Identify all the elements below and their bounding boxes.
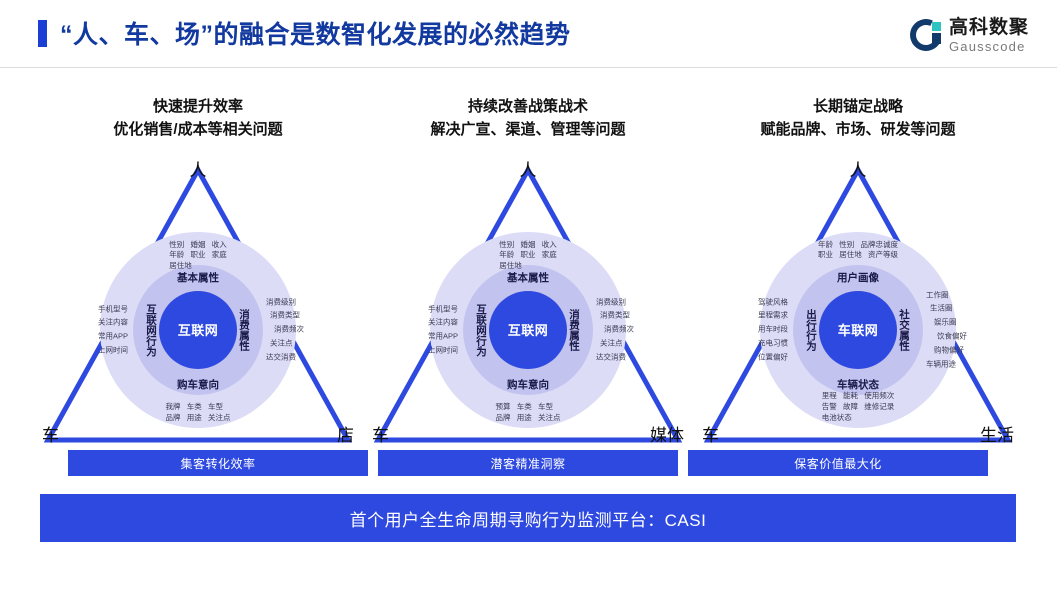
column-heading-line2: 解决广宣、渠道、管理等问题 — [368, 118, 688, 141]
triangle-corner-bottom-left: 车 — [42, 427, 59, 444]
satellite-text: 上网时间 — [98, 343, 128, 357]
triangle-diagram-3: 人 车 生活 车联网 用户画像 社交属性 车辆状态 出行行为 年龄 性别 品牌忠… — [698, 154, 1018, 449]
column-heading-line2: 赋能品牌、市场、研发等问题 — [698, 118, 1018, 141]
satellite-group-right: 消费级别 消费类型 消费频次 关注点 达交消费 — [596, 295, 634, 364]
column-group-1: 快速提升效率 优化销售/成本等相关问题 人 车 店 互联网 基本属性 消费属性 … — [38, 95, 358, 449]
concentric-diagram-2: 互联网 基本属性 消费属性 购车意向 互联网行为 性别 婚姻 收入 年龄 职业 … — [430, 232, 626, 428]
satellite-group-left: 手机型号 关注内容 常用APP 上网时间 — [98, 302, 128, 358]
triangle-corner-apex: 人 — [190, 162, 207, 179]
satellite-text: 饮食偏好 — [926, 330, 967, 344]
page-title: “人、车、场”的融合是数智化发展的必然趋势 — [60, 15, 571, 51]
triangle-corner-bottom-right: 生活 — [980, 427, 1014, 444]
satellite-text: 性别 婚姻 收入 — [169, 240, 227, 251]
satellite-text: 品牌 用途 关注点 — [165, 413, 230, 424]
satellite-text: 达交消费 — [596, 350, 634, 364]
ring-label-bottom: 车辆状态 — [837, 377, 879, 392]
satellite-text: 达交消费 — [266, 350, 304, 364]
header-divider — [0, 67, 1057, 68]
ring-label-left: 互联网行为 — [144, 303, 159, 356]
column-heading-line2: 优化销售/成本等相关问题 — [38, 118, 358, 141]
brand-logo: 高科数聚 Gausscode — [910, 14, 1029, 56]
satellite-text: 车辆用途 — [926, 357, 967, 371]
satellite-text: 生活圈 — [926, 302, 967, 316]
satellite-text: 消费级别 — [266, 295, 304, 309]
satellite-text: 常用APP — [428, 330, 458, 344]
satellite-text: 居住地 — [169, 261, 227, 272]
core-circle: 互联网 — [159, 291, 237, 369]
satellite-text: 年龄 性别 品牌忠诚度 — [818, 240, 898, 251]
satellite-text: 关注点 — [596, 336, 634, 350]
column-group-3: 长期锚定战略 赋能品牌、市场、研发等问题 人 车 生活 车联网 用户画像 社交属… — [698, 95, 1018, 449]
column-heading-2: 持续改善战策战术 解决广宣、渠道、管理等问题 — [368, 95, 688, 142]
core-label: 互联网 — [178, 320, 219, 339]
satellite-text: 用车时段 — [758, 323, 788, 337]
satellite-text: 娱乐圈 — [926, 316, 967, 330]
page-header: “人、车、场”的融合是数智化发展的必然趋势 高科数聚 Gausscode — [0, 0, 1057, 68]
satellite-text: 里程需求 — [758, 309, 788, 323]
satellite-text: 居住地 — [499, 261, 557, 272]
caption-bar-1: 集客转化效率 — [68, 450, 368, 476]
ring-label-right: 消费属性 — [237, 309, 252, 351]
satellite-group-top: 性别 婚姻 收入 年龄 职业 家庭 居住地 — [499, 240, 557, 273]
logo-name-en: Gausscode — [949, 40, 1029, 53]
satellite-text: 我牌 车类 车型 — [165, 402, 230, 413]
satellite-text: 工作圈 — [926, 288, 967, 302]
satellite-text: 性别 婚姻 收入 — [499, 240, 557, 251]
satellite-text: 电池状态 — [822, 413, 895, 424]
satellite-text: 品牌 用途 关注点 — [495, 413, 560, 424]
ring-label-left: 出行行为 — [804, 309, 819, 351]
caption-bar-2: 潜客精准洞察 — [378, 450, 678, 476]
concentric-diagram-3: 车联网 用户画像 社交属性 车辆状态 出行行为 年龄 性别 品牌忠诚度 职业 居… — [760, 232, 956, 428]
satellite-group-right: 工作圈 生活圈 娱乐圈 饮食偏好 购物偏好 车辆用途 — [926, 288, 967, 371]
satellite-text: 消费频次 — [596, 323, 634, 337]
ring-label-left: 互联网行为 — [474, 303, 489, 356]
satellite-text: 关注点 — [266, 336, 304, 350]
satellite-group-top: 年龄 性别 品牌忠诚度 职业 居住地 资产等级 — [818, 240, 898, 262]
satellite-text: 位置偏好 — [758, 350, 788, 364]
satellite-text: 上网时间 — [428, 343, 458, 357]
triangle-corner-bottom-right: 店 — [337, 427, 354, 444]
ring-label-right: 社交属性 — [897, 309, 912, 351]
satellite-text: 驾驶风格 — [758, 295, 788, 309]
satellite-text: 手机型号 — [428, 302, 458, 316]
concentric-diagram-1: 互联网 基本属性 消费属性 购车意向 互联网行为 性别 婚姻 收入 年龄 职业 … — [100, 232, 296, 428]
column-heading-1: 快速提升效率 优化销售/成本等相关问题 — [38, 95, 358, 142]
satellite-text: 消费类型 — [266, 309, 304, 323]
triangle-corner-bottom-left: 车 — [372, 427, 389, 444]
satellite-text: 消费频次 — [266, 323, 304, 337]
satellite-group-left: 手机型号 关注内容 常用APP 上网时间 — [428, 302, 458, 358]
triangle-corner-bottom-right: 媒体 — [650, 427, 684, 444]
triangle-corner-apex: 人 — [520, 162, 537, 179]
triangle-diagram-2: 人 车 媒体 互联网 基本属性 消费属性 购车意向 互联网行为 性别 婚姻 收入… — [368, 154, 688, 449]
satellite-group-top: 性别 婚姻 收入 年龄 职业 家庭 居住地 — [169, 240, 227, 273]
ring-label-bottom: 购车意向 — [507, 377, 549, 392]
satellite-text: 购物偏好 — [926, 343, 967, 357]
satellite-group-right: 消费级别 消费类型 消费频次 关注点 达交消费 — [266, 295, 304, 364]
satellite-text: 里程 能耗 使用频次 — [822, 391, 895, 402]
triangle-diagram-1: 人 车 店 互联网 基本属性 消费属性 购车意向 互联网行为 性别 婚姻 收入 … — [38, 154, 358, 449]
satellite-text: 关注内容 — [98, 316, 128, 330]
core-label: 互联网 — [508, 320, 549, 339]
satellite-text: 年龄 职业 家庭 — [499, 250, 557, 261]
footer-banner: 首个用户全生命周期寻购行为监测平台：CASI — [40, 494, 1016, 542]
column-heading-3: 长期锚定战略 赋能品牌、市场、研发等问题 — [698, 95, 1018, 142]
satellite-group-left: 驾驶风格 里程需求 用车时段 充电习惯 位置偏好 — [758, 295, 788, 364]
core-label: 车联网 — [838, 320, 879, 339]
ring-label-bottom: 购车意向 — [177, 377, 219, 392]
satellite-text: 手机型号 — [98, 302, 128, 316]
core-circle: 车联网 — [819, 291, 897, 369]
satellite-text: 充电习惯 — [758, 336, 788, 350]
ring-label-top: 用户画像 — [837, 270, 879, 285]
caption-bar-3: 保客价值最大化 — [688, 450, 988, 476]
satellite-group-bottom: 里程 能耗 使用频次 告警 故障 维修记录 电池状态 — [822, 391, 895, 424]
triangle-corner-apex: 人 — [850, 162, 867, 179]
ring-label-right: 消费属性 — [567, 309, 582, 351]
column-heading-line1: 持续改善战策战术 — [468, 98, 588, 115]
satellite-text: 预算 车类 车型 — [495, 402, 560, 413]
satellite-text: 年龄 职业 家庭 — [169, 250, 227, 261]
satellite-text: 常用APP — [98, 330, 128, 344]
satellite-text: 告警 故障 维修记录 — [822, 402, 895, 413]
logo-name-cn: 高科数聚 — [949, 18, 1029, 37]
column-group-2: 持续改善战策战术 解决广宣、渠道、管理等问题 人 车 媒体 互联网 基本属性 消… — [368, 95, 688, 449]
triangle-corner-bottom-left: 车 — [702, 427, 719, 444]
title-accent-bar — [38, 20, 47, 47]
logo-text: 高科数聚 Gausscode — [949, 18, 1029, 53]
logo-teal-square — [932, 22, 941, 31]
satellite-group-bottom: 预算 车类 车型 品牌 用途 关注点 — [495, 402, 560, 424]
satellite-group-bottom: 我牌 车类 车型 品牌 用途 关注点 — [165, 402, 230, 424]
logo-navy-square — [932, 33, 941, 44]
column-heading-line1: 快速提升效率 — [153, 98, 243, 115]
satellite-text: 职业 居住地 资产等级 — [818, 250, 898, 261]
column-heading-line1: 长期锚定战略 — [813, 98, 903, 115]
satellite-text: 关注内容 — [428, 316, 458, 330]
core-circle: 互联网 — [489, 291, 567, 369]
gausscode-logo-icon — [910, 19, 942, 51]
satellite-text: 消费类型 — [596, 309, 634, 323]
satellite-text: 消费级别 — [596, 295, 634, 309]
